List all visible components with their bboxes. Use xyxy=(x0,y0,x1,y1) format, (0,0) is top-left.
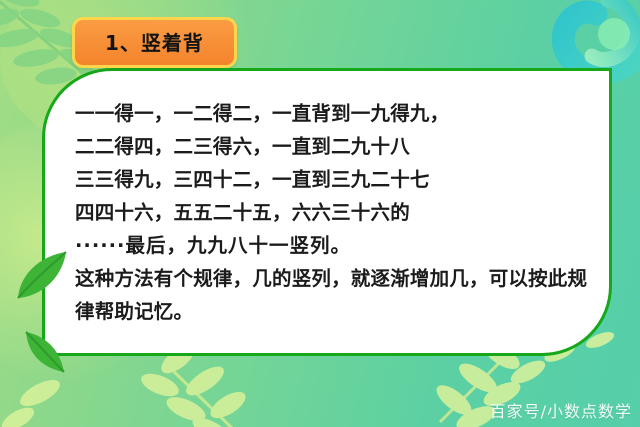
section-title-badge: 1、竖着背 xyxy=(72,17,237,68)
content-line-1: 一一得一，一二得二，一直背到一九得九， xyxy=(75,97,591,130)
content-line-5: ······最后，九九八十一竖列。 xyxy=(75,229,591,262)
content-card-body: 一一得一，一二得二，一直背到一九得九， 二二得四，二三得六，一直到二九十八 三三… xyxy=(75,97,591,328)
content-line-7: 律帮助记忆。 xyxy=(75,295,591,328)
content-line-6: 这种方法有个规律，几的竖列，就逐渐增加几，可以按此规 xyxy=(75,262,591,295)
leaf-accent-lower-icon xyxy=(22,330,70,375)
content-line-3: 三三得九，三四十二，一直到三九二十七 xyxy=(75,163,591,196)
watermark-text: 百家号/小数点数学 xyxy=(490,398,632,422)
leaf-accent-upper-icon xyxy=(14,250,74,305)
content-line-2: 二二得四，二三得六，一直到二九十八 xyxy=(75,130,591,163)
content-card: 一一得一，一二得二，一直背到一九得九， 二二得四，二三得六，一直到二九十八 三三… xyxy=(42,68,612,356)
section-title-text: 1、竖着背 xyxy=(105,31,204,55)
slide-canvas: 一一得一，一二得二，一直背到一九得九， 二二得四，二三得六，一直到二九十八 三三… xyxy=(0,0,640,427)
content-line-4: 四四十六，五五二十五，六六三十六的 xyxy=(75,196,591,229)
